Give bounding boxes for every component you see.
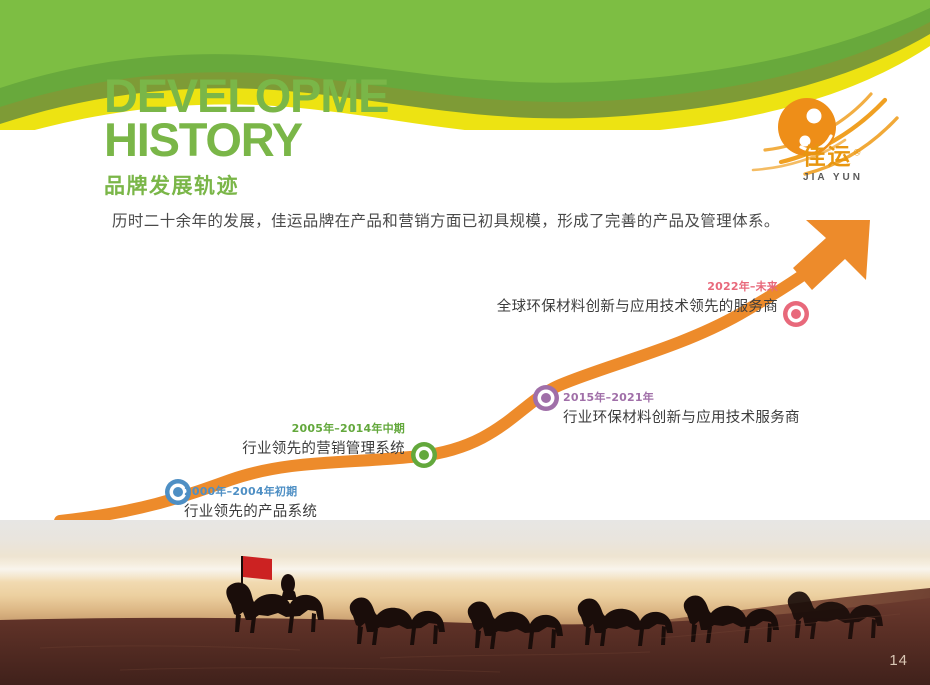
milestone-date-2022: 2022年–未来	[430, 278, 778, 294]
page-number: 14	[889, 652, 908, 669]
logo-cn-text: 佳运	[803, 144, 853, 170]
page-title-en-line1: DEVELOPME	[104, 74, 504, 118]
page-title-en: DEVELOPME HISTORY	[104, 74, 504, 161]
logo-dot-upper	[807, 109, 822, 124]
desert-caravan-scene: 14	[0, 520, 930, 685]
milestone-label-2000: 2000年–2004年初期 行业领先的产品系统	[184, 483, 317, 521]
milestone-desc-2000: 行业领先的产品系统	[184, 500, 317, 521]
slide-root: DEVELOPME HISTORY 品牌发展轨迹 佳运® JIA YUN 历时二…	[0, 0, 930, 685]
milestone-label-2015: 2015年–2021年 行业环保材料创新与应用技术服务商	[563, 389, 800, 427]
logo-registered-mark: ®	[853, 148, 864, 158]
timeline-arrow-head	[793, 220, 870, 290]
desert-dunes-and-camels	[0, 520, 930, 685]
page-title-en-line2: HISTORY	[104, 118, 504, 162]
milestone-date-2015: 2015年–2021年	[563, 389, 800, 405]
milestone-marker-2015[interactable]	[531, 383, 561, 413]
milestone-marker-2022[interactable]	[781, 299, 811, 329]
milestone-desc-2005: 行业领先的营销管理系统	[100, 437, 405, 458]
timeline-growth-arrow	[0, 180, 930, 550]
milestone-label-2005: 2005年–2014年中期 行业领先的营销管理系统	[100, 420, 405, 458]
flag	[243, 556, 272, 580]
milestone-marker-2005[interactable]	[409, 440, 439, 470]
logo-cn-name: 佳运®	[773, 146, 893, 169]
milestone-date-2000: 2000年–2004年初期	[184, 483, 317, 499]
milestone-desc-2022: 全球环保材料创新与应用技术领先的服务商	[430, 295, 778, 316]
milestone-label-2022: 2022年–未来 全球环保材料创新与应用技术领先的服务商	[430, 278, 778, 316]
milestone-date-2005: 2005年–2014年中期	[100, 420, 405, 436]
milestone-desc-2015: 行业环保材料创新与应用技术服务商	[563, 406, 800, 427]
